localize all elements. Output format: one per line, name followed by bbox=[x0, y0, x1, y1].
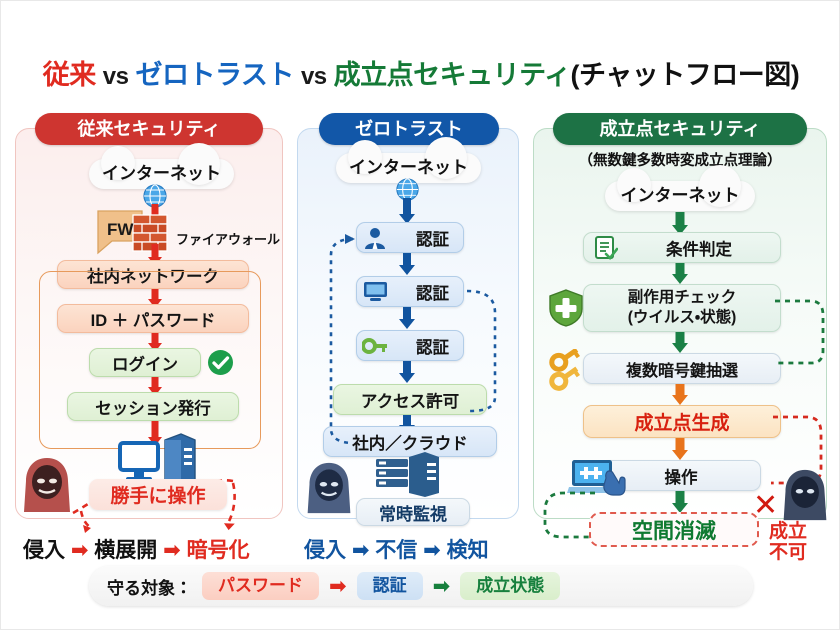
side-effect-line1: 副作用チェック bbox=[628, 288, 737, 308]
server-rack-icon bbox=[375, 457, 409, 491]
seq-zt-step2: 不信 bbox=[375, 539, 417, 562]
seq-trad-step2: 横展開 bbox=[94, 539, 157, 562]
seq-zt-step1: 侵入 bbox=[304, 539, 346, 562]
diagram-canvas: 従来 vs ゼロトラスト vs 成立点セキュリティ(チャットフロー図) 従来セキ… bbox=[0, 0, 840, 630]
seq-trad-arrow2: ➡ bbox=[163, 539, 181, 562]
continuous-verification-loop bbox=[301, 229, 517, 461]
checklist-icon bbox=[594, 236, 618, 260]
box-multi-key-lottery: 複数暗号鍵抽選 bbox=[583, 353, 781, 384]
vanish-recycle-loop bbox=[537, 487, 599, 543]
seq-zt-step3: 検知 bbox=[447, 539, 489, 562]
page-title: 従来 vs ゼロトラスト vs 成立点セキュリティ(チャットフロー図) bbox=[1, 53, 840, 92]
footer-summary-bar: 守る対象： パスワード ➡ 認証 ➡ 成立状態 bbox=[89, 566, 753, 606]
firewall-icon: FW bbox=[96, 207, 170, 259]
sequence-zerotrust: 侵入 ➡ 不信 ➡ 検知 bbox=[304, 534, 489, 564]
box-space-vanish: 空間消滅 bbox=[589, 512, 759, 547]
hacker-icon-blocked bbox=[779, 466, 831, 524]
header-zerotrust: ゼロトラスト bbox=[319, 113, 499, 145]
firewall-label: ファイアウォール bbox=[176, 229, 280, 248]
shield-icon bbox=[549, 289, 583, 327]
seq-trad-step1: 侵入 bbox=[23, 539, 65, 562]
seq-zt-arrow1: ➡ bbox=[352, 539, 370, 562]
blocked-x-icon: ✕ bbox=[753, 488, 778, 523]
label-unauthorized-operation: 勝手に操作 bbox=[89, 479, 227, 510]
keys-icon bbox=[547, 349, 587, 397]
footer-label: 守る対象： bbox=[107, 574, 192, 599]
trusted-zone-outline bbox=[39, 271, 261, 449]
firewall-badge-text: FW bbox=[107, 220, 134, 239]
seq-trad-step3: 暗号化 bbox=[187, 539, 250, 562]
footer-chip-state: 成立状態 bbox=[460, 572, 560, 600]
seq-zt-arrow2: ➡ bbox=[423, 539, 441, 562]
title-suffix: (チャットフロー図) bbox=[571, 60, 800, 90]
footer-chip-password: パスワード bbox=[202, 572, 319, 600]
title-part-traditional: 従来 bbox=[43, 60, 96, 90]
seq-trad-arrow1: ➡ bbox=[71, 539, 89, 562]
subtitle-securepoint: （無数鍵多数時変成立点理論） bbox=[533, 149, 827, 170]
cloud-internet-securepoint: インターネット bbox=[605, 181, 755, 211]
title-part-zerotrust: ゼロトラスト bbox=[135, 60, 293, 90]
footer-arrow-2: ➡ bbox=[433, 574, 451, 599]
label-not-established: 成立 不可 bbox=[767, 521, 809, 563]
title-part-securepoint: 成立点セキュリティ bbox=[334, 60, 571, 90]
fail-line2: 不可 bbox=[767, 542, 809, 563]
header-traditional: 従来セキュリティ bbox=[35, 113, 263, 145]
sideeffect-recheck-loop bbox=[771, 293, 833, 373]
box-secure-point-generation: 成立点生成 bbox=[583, 405, 781, 438]
title-vs-1: vs bbox=[103, 63, 129, 90]
footer-chip-auth: 認証 bbox=[357, 572, 423, 600]
fail-line1: 成立 bbox=[767, 521, 809, 542]
hacker-icon-blue bbox=[303, 459, 355, 517]
header-securepoint: 成立点セキュリティ bbox=[553, 113, 807, 145]
label-continuous-monitoring: 常時監視 bbox=[356, 498, 470, 526]
footer-arrow-1: ➡ bbox=[329, 574, 347, 599]
title-vs-2: vs bbox=[301, 63, 327, 90]
side-effect-line2: (ウイルス・状態) bbox=[628, 308, 737, 328]
box-side-effect-check: 副作用チェック (ウイルス・状態) bbox=[583, 284, 781, 332]
sequence-traditional: 侵入 ➡ 横展開 ➡ 暗号化 bbox=[23, 534, 250, 564]
server-tower-icon bbox=[407, 451, 441, 497]
